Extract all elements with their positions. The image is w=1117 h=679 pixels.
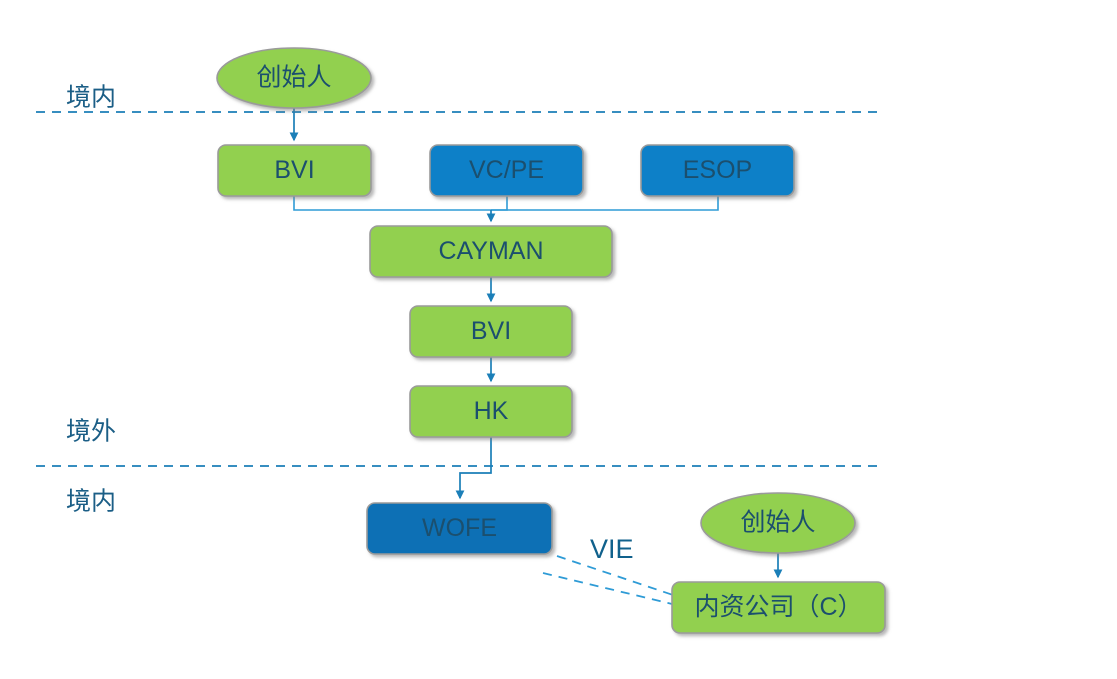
zone-label-onshore-bottom: 境内 (66, 488, 116, 516)
node-domestic-company-shape (672, 582, 885, 633)
connector-vcpe-drop (491, 196, 507, 210)
node-hk-shape (410, 386, 572, 437)
node-bvi-mid-shape (410, 306, 572, 357)
connector-esop-drop (491, 196, 718, 210)
zone-label-offshore: 境外 (66, 418, 116, 446)
node-cayman-shape (370, 226, 612, 277)
node-esop[interactable]: ESOP (641, 145, 794, 196)
node-bvi-top[interactable]: BVI (218, 145, 371, 196)
node-group: 创始人BVIVC/PEESOPCAYMANBVIHKWOFE创始人内资公司（C） (217, 48, 885, 633)
node-hk[interactable]: HK (410, 386, 572, 437)
connector-bvi-top-drop (294, 196, 491, 210)
zone-label-group: 境内境外境内 (66, 84, 116, 516)
node-wofe-shape (367, 503, 552, 554)
node-cayman[interactable]: CAYMAN (370, 226, 612, 277)
diagram-canvas: VIE 创始人BVIVC/PEESOPCAYMANBVIHKWOFE创始人内资公… (0, 0, 1117, 679)
diagram-root: VIE 创始人BVIVC/PEESOPCAYMANBVIHKWOFE创始人内资公… (0, 0, 1117, 679)
node-founder-onshore[interactable]: 创始人 (701, 493, 855, 553)
node-wofe[interactable]: WOFE (367, 503, 552, 554)
node-vcpe[interactable]: VC/PE (430, 145, 583, 196)
node-founder-offshore[interactable]: 创始人 (217, 48, 371, 108)
node-founder-offshore-shape (217, 48, 371, 108)
node-bvi-mid[interactable]: BVI (410, 306, 572, 357)
node-vcpe-shape (430, 145, 583, 196)
node-founder-onshore-shape (701, 493, 855, 553)
connector-hk-to-wofe (460, 437, 491, 498)
node-domestic-company[interactable]: 内资公司（C） (672, 582, 885, 633)
node-bvi-top-shape (218, 145, 371, 196)
zone-label-onshore-top: 境内 (66, 84, 116, 112)
node-esop-shape (641, 145, 794, 196)
vie-label: VIE (590, 534, 634, 564)
vie-link-group: VIE (543, 534, 676, 604)
